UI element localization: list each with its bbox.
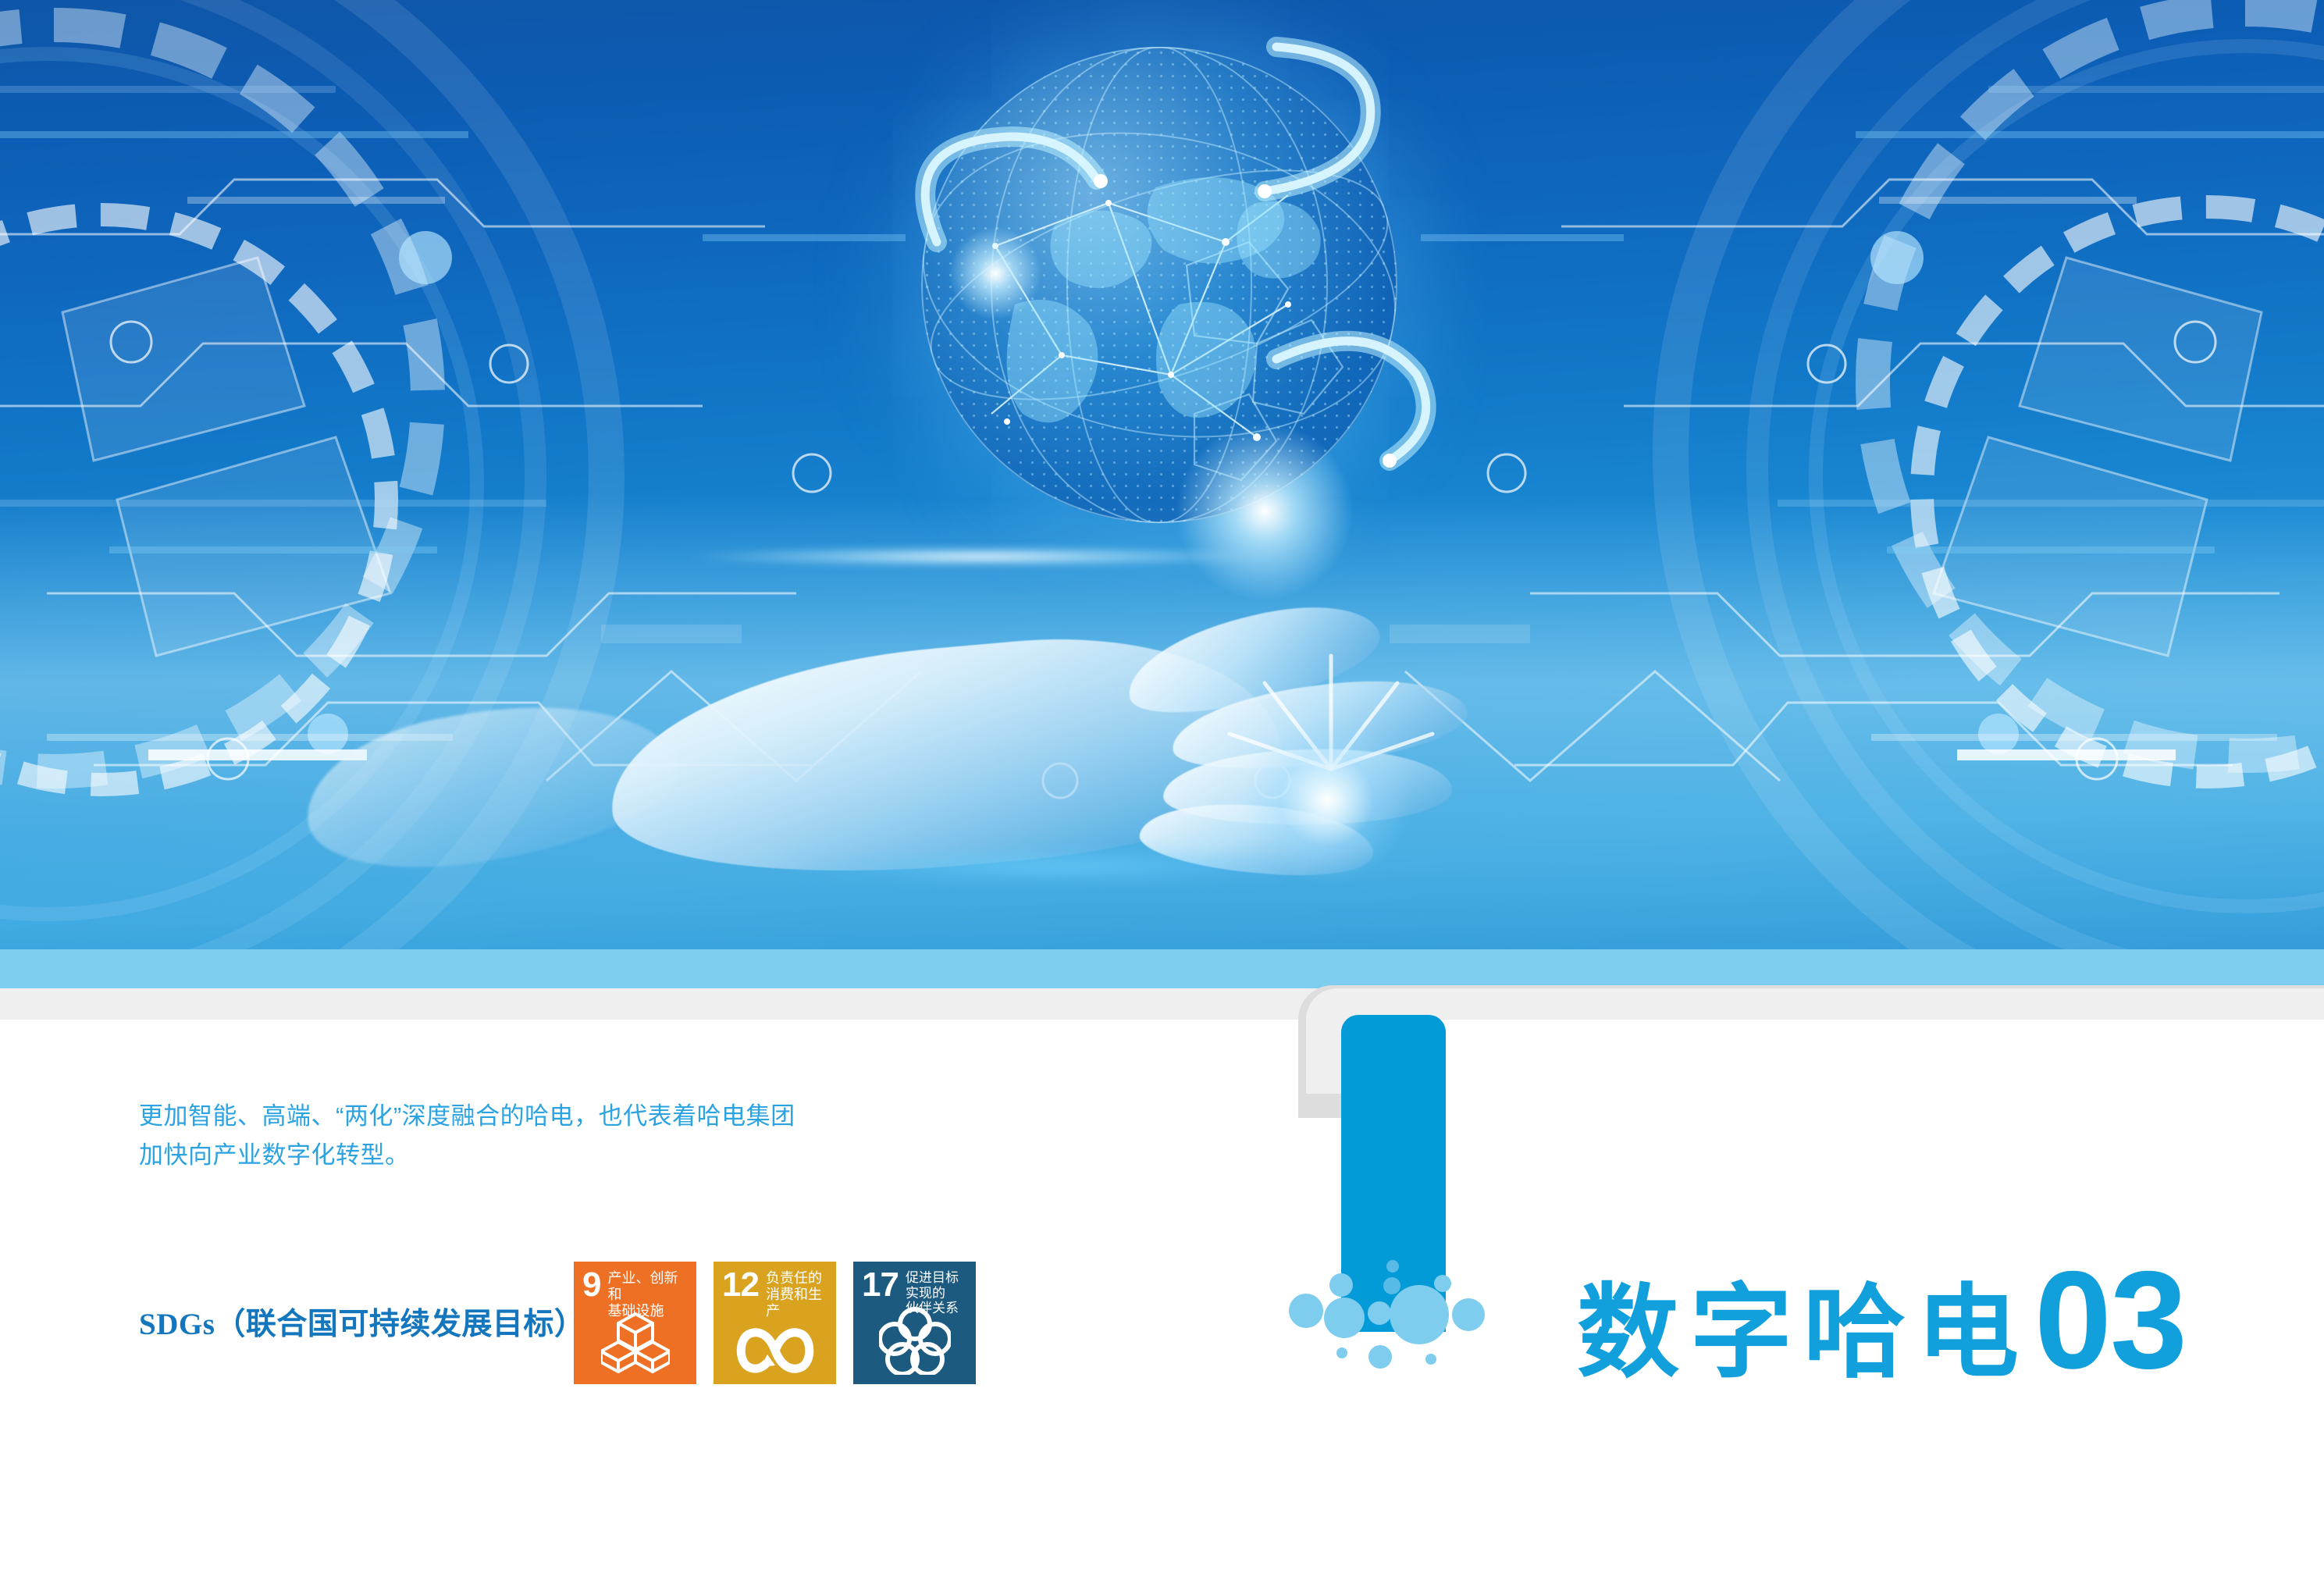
intro-paragraph: 更加智能、高端、“两化”深度融合的哈电，也代表着哈电集团 加快向产业数字化转型。 [139, 1097, 998, 1175]
sdg-9-number: 9 [582, 1270, 600, 1300]
globe-flare-left [948, 226, 1042, 320]
bubble-c [1289, 1294, 1323, 1328]
hero-image [0, 0, 2324, 949]
light-blue-divider-band [0, 949, 2324, 988]
sdg-12-name-line2: 消费和生产 [766, 1287, 822, 1319]
sdg-17-number: 17 [862, 1270, 899, 1300]
bubble-h [1336, 1347, 1347, 1358]
section-number: 03 [2034, 1251, 2186, 1390]
bubble-small-inner-1 [1386, 1260, 1399, 1273]
cubes-icon [574, 1311, 696, 1375]
bubble-a [1329, 1273, 1353, 1297]
sdgs-label: SDGs（联合国可持续发展目标） [139, 1300, 585, 1344]
digital-globe [886, 31, 1432, 578]
infinity-loop-icon [714, 1326, 836, 1375]
bracket-inner-cutout [1365, 1020, 2324, 1129]
sdg-12-number: 12 [722, 1270, 759, 1300]
bubble-d [1324, 1298, 1365, 1338]
sdg-tile-row: 9 产业、创新和 基础设施 [574, 1262, 976, 1384]
bubble-f [1390, 1285, 1449, 1344]
bubble-cluster [1280, 1249, 1593, 1476]
section-title: 数字哈电 03 [1577, 1251, 2186, 1390]
sdg-tile-12[interactable]: 12 负责任的 消费和生产 [714, 1262, 836, 1384]
poster-page: 更加智能、高端、“两化”深度融合的哈电，也代表着哈电集团 加快向产业数字化转型。… [0, 0, 2324, 1577]
bubble-i [1368, 1345, 1392, 1369]
five-circles-icon [853, 1306, 976, 1375]
lower-glow-line [788, 851, 1319, 882]
bubble-e [1368, 1301, 1391, 1325]
globe-flare-bottom [1175, 422, 1354, 601]
bubble-j [1425, 1354, 1436, 1365]
open-hand-graphic [500, 593, 1608, 949]
sdg-12-header: 12 负责任的 消费和生产 [722, 1270, 830, 1319]
corner-bracket-graphic [1298, 985, 2324, 1126]
intro-line-1: 更加智能、高端、“两化”深度融合的哈电，也代表着哈电集团 [139, 1097, 998, 1136]
sdg-17-name-line1: 促进目标实现的 [906, 1270, 959, 1301]
horizon-glow-line [687, 546, 1272, 567]
sdg-12-name-line1: 负责任的 [766, 1270, 822, 1286]
section-title-cn: 数字哈电 [1577, 1281, 2030, 1383]
bubble-b [1434, 1275, 1451, 1292]
sdg-tile-17[interactable]: 17 促进目标实现的 伙伴关系 [853, 1262, 976, 1384]
bubble-g [1452, 1298, 1485, 1331]
sdg-12-name: 负责任的 消费和生产 [766, 1270, 830, 1319]
intro-line-2: 加快向产业数字化转型。 [139, 1136, 998, 1175]
sdg-tile-9[interactable]: 9 产业、创新和 基础设施 [574, 1262, 696, 1384]
bubble-small-inner-2 [1383, 1277, 1400, 1294]
globe-orbit-streaks [839, 0, 1487, 625]
sdg-9-name-line1: 产业、创新和 [607, 1270, 678, 1302]
